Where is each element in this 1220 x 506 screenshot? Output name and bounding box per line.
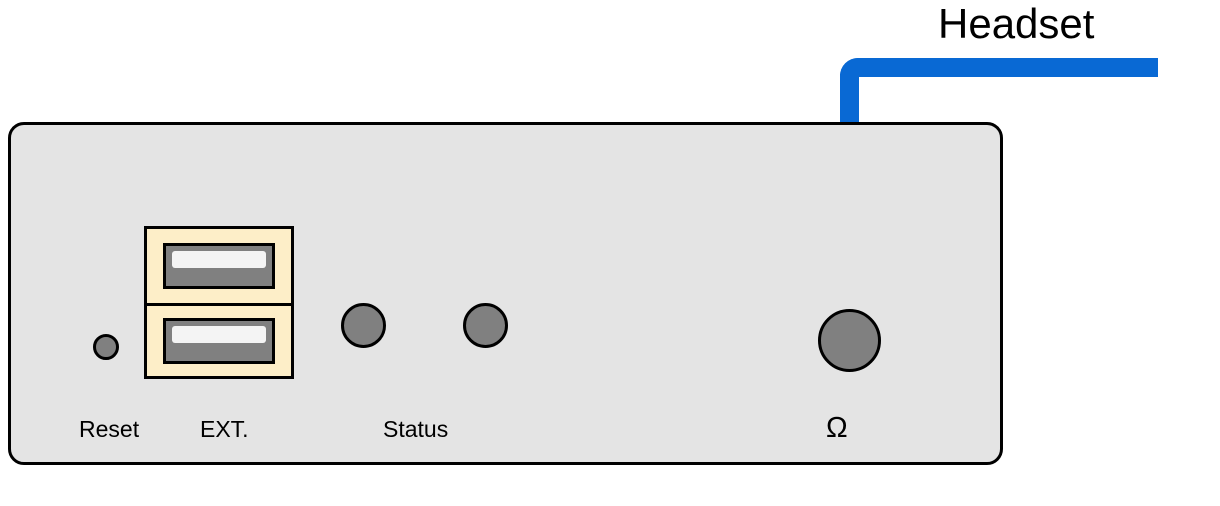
- status-led-2: [463, 303, 508, 348]
- usb-port-bottom[interactable]: [147, 303, 291, 377]
- ext-usb-port-stack: [144, 226, 294, 379]
- status-led-1: [341, 303, 386, 348]
- reset-label: Reset: [79, 418, 139, 441]
- headset-jack-label: Ω: [826, 414, 848, 443]
- status-label: Status: [383, 418, 448, 441]
- ext-label: EXT.: [200, 418, 249, 441]
- usb-port-insert: [172, 251, 266, 268]
- usb-port-top[interactable]: [147, 229, 291, 303]
- diagram-canvas: Headset Reset EXT. Status Ω: [0, 0, 1220, 506]
- usb-port-insert: [172, 326, 266, 343]
- usb-port-icon: [163, 318, 275, 364]
- audio-jack-icon[interactable]: [818, 309, 881, 372]
- headset-cable-horizontal-segment: [858, 58, 1158, 77]
- reset-pinhole-icon[interactable]: [93, 334, 119, 360]
- headset-callout-label: Headset: [938, 2, 1094, 46]
- usb-port-icon: [163, 243, 275, 289]
